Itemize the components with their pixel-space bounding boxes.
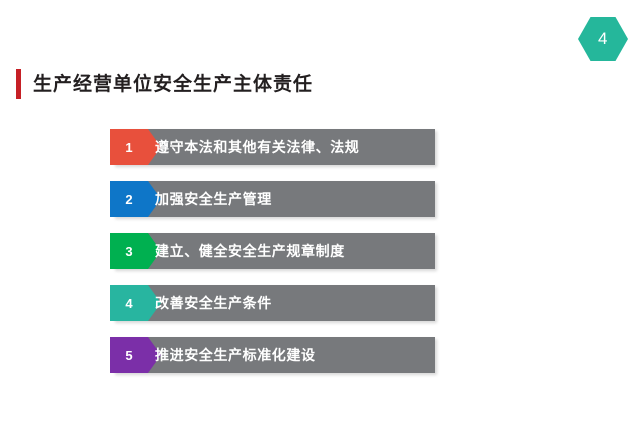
item-label: 遵守本法和其他有关法律、法规 bbox=[155, 129, 359, 165]
page-number-hexagon: 4 bbox=[578, 17, 628, 61]
item-number-badge: 1 bbox=[110, 129, 148, 165]
item-number-label: 2 bbox=[110, 181, 148, 217]
slide-canvas: 4 生产经营单位安全生产主体责任 1 遵守本法和其他有关法律、法规 2 加强安全… bbox=[0, 0, 640, 443]
item-label: 改善安全生产条件 bbox=[155, 285, 272, 321]
item-number-badge: 5 bbox=[110, 337, 148, 373]
responsibility-list: 1 遵守本法和其他有关法律、法规 2 加强安全生产管理 3 建立、健全安全生产规… bbox=[0, 129, 640, 389]
list-item[interactable]: 1 遵守本法和其他有关法律、法规 bbox=[0, 129, 640, 165]
item-number-label: 1 bbox=[110, 129, 148, 165]
list-item[interactable]: 5 推进安全生产标准化建设 bbox=[0, 337, 640, 373]
item-number-badge: 4 bbox=[110, 285, 148, 321]
item-number-label: 4 bbox=[110, 285, 148, 321]
page-title: 生产经营单位安全生产主体责任 bbox=[33, 75, 313, 94]
item-label: 推进安全生产标准化建设 bbox=[155, 337, 316, 373]
item-number-badge: 3 bbox=[110, 233, 148, 269]
item-number-label: 3 bbox=[110, 233, 148, 269]
page-title-row: 生产经营单位安全生产主体责任 bbox=[16, 68, 313, 100]
list-item[interactable]: 2 加强安全生产管理 bbox=[0, 181, 640, 217]
list-item[interactable]: 4 改善安全生产条件 bbox=[0, 285, 640, 321]
title-accent-bar bbox=[16, 69, 21, 99]
item-number-badge: 2 bbox=[110, 181, 148, 217]
list-item[interactable]: 3 建立、健全安全生产规章制度 bbox=[0, 233, 640, 269]
item-number-label: 5 bbox=[110, 337, 148, 373]
item-label: 建立、健全安全生产规章制度 bbox=[155, 233, 345, 269]
item-label: 加强安全生产管理 bbox=[155, 181, 272, 217]
page-number-label: 4 bbox=[578, 17, 628, 61]
